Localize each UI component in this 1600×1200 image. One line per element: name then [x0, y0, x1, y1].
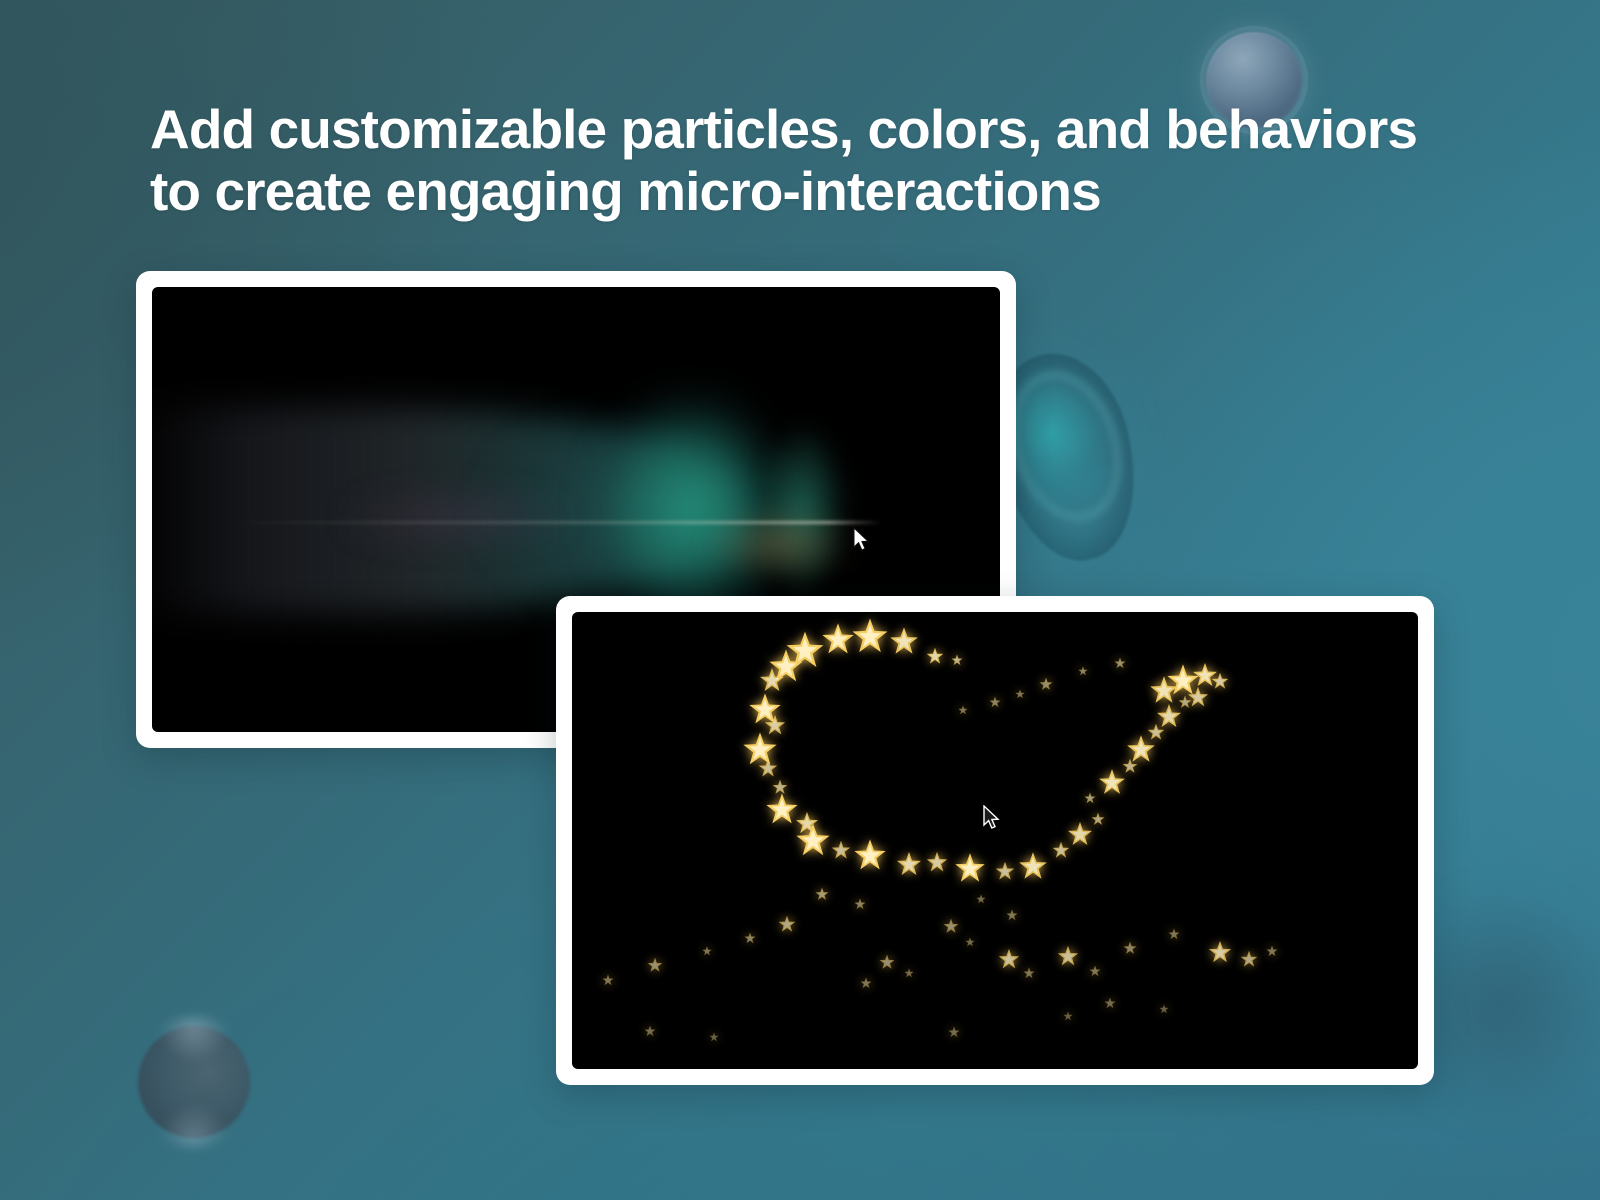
star-particle-icon — [854, 898, 866, 910]
star-particle-icon — [647, 957, 663, 973]
gold-star-trail-effect — [572, 612, 1418, 1069]
star-particle-icon — [1123, 941, 1137, 955]
star-particle-icon — [853, 838, 887, 872]
star-particle-icon — [702, 946, 712, 956]
star-particle-icon — [1211, 672, 1229, 690]
stars-preview-screen — [572, 612, 1418, 1069]
star-particle-icon — [951, 654, 963, 666]
star-particle-icon — [965, 937, 975, 947]
star-particle-icon — [958, 705, 968, 715]
star-particle-icon — [1168, 928, 1180, 940]
star-particle-icon — [1063, 1011, 1073, 1021]
star-particle-icon — [860, 977, 872, 989]
star-particle-icon — [1078, 666, 1088, 676]
star-particle-icon — [896, 851, 922, 877]
bubble-bottom-left-icon — [138, 1026, 250, 1138]
star-particle-icon — [1104, 997, 1116, 1009]
star-particle-icon — [831, 840, 851, 860]
star-particle-icon — [1006, 909, 1018, 921]
star-particle-icon — [954, 852, 986, 884]
star-particle-icon — [644, 1025, 656, 1037]
star-particle-icon — [851, 617, 889, 655]
star-particle-icon — [744, 932, 756, 944]
star-particle-icon — [758, 758, 778, 778]
star-particle-icon — [943, 918, 959, 934]
star-particle-icon — [1057, 945, 1079, 967]
star-particle-icon — [778, 915, 796, 933]
star-particle-icon — [1089, 965, 1101, 977]
star-particle-icon — [995, 861, 1015, 881]
star-particle-icon — [795, 822, 831, 858]
star-particle-icon — [759, 667, 785, 693]
star-particle-icon — [989, 696, 1001, 708]
star-particle-icon — [904, 968, 914, 978]
star-particle-icon — [998, 948, 1020, 970]
star-particle-icon — [1208, 940, 1232, 964]
star-particle-icon — [1039, 677, 1053, 691]
star-particle-icon — [1114, 657, 1126, 669]
star-particle-icon — [926, 647, 944, 665]
star-particle-icon — [889, 626, 919, 656]
star-particle-icon — [1091, 812, 1105, 826]
star-particle-icon — [1084, 792, 1096, 804]
star-particle-icon — [879, 954, 895, 970]
promo-stage: Add customizable particles, colors, and … — [0, 0, 1600, 1200]
star-particle-icon — [926, 851, 948, 873]
page-headline: Add customizable particles, colors, and … — [150, 98, 1450, 222]
star-particle-icon — [815, 887, 829, 901]
star-particle-icon — [765, 792, 799, 826]
star-particle-icon — [1067, 821, 1093, 847]
star-particle-icon — [1266, 945, 1278, 957]
star-particle-icon — [1015, 689, 1025, 699]
particle-preview-stars-card[interactable] — [556, 596, 1434, 1085]
star-particle-icon — [1159, 1004, 1169, 1014]
star-particle-icon — [709, 1032, 719, 1042]
star-particle-icon — [1018, 851, 1048, 881]
star-particle-icon — [1187, 686, 1209, 708]
star-particle-icon — [948, 1026, 960, 1038]
star-particle-icon — [1023, 967, 1035, 979]
star-particle-icon — [1240, 950, 1258, 968]
star-particle-icon — [602, 974, 614, 986]
star-particle-icon — [976, 894, 986, 904]
